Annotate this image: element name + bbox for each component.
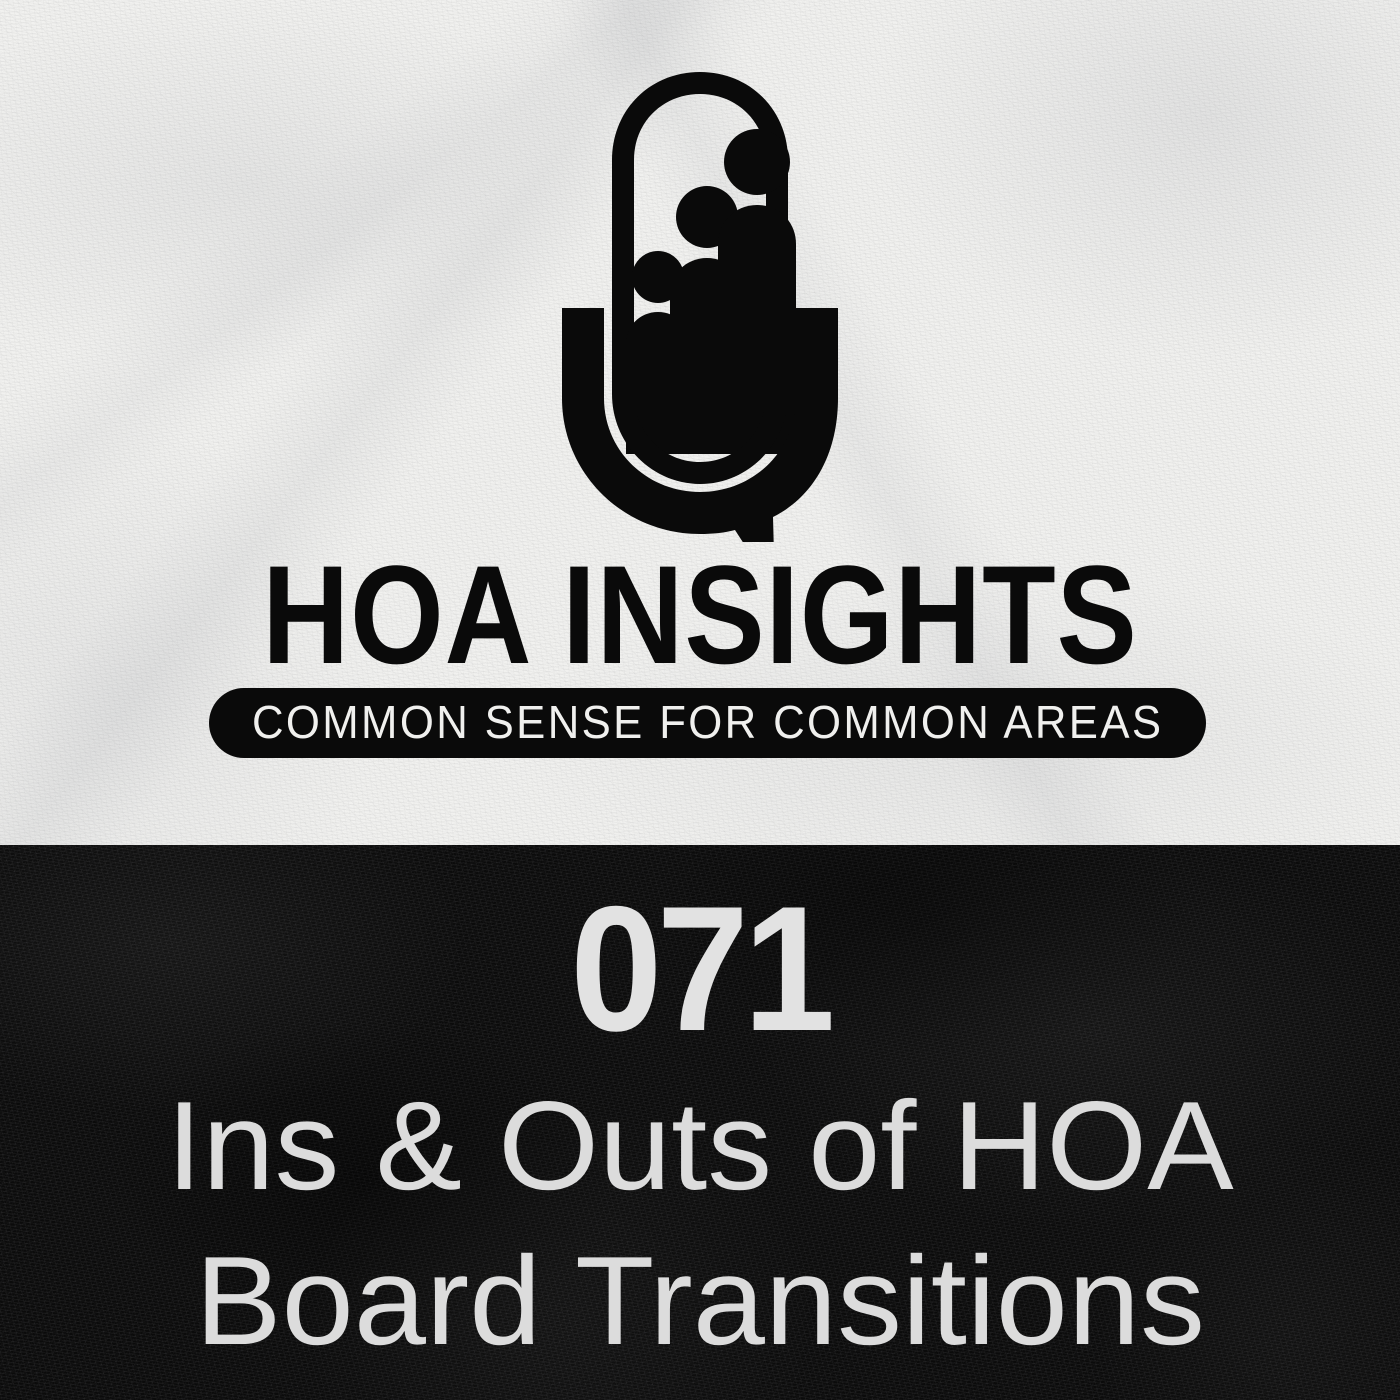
episode-number: 071 bbox=[49, 898, 1351, 1040]
episode-title: Ins & Outs of HOA Board Transitions bbox=[60, 1068, 1340, 1378]
microphone-speech-bubble-people-icon bbox=[540, 62, 860, 542]
tagline-text: COMMON SENSE FOR COMMON AREAS bbox=[252, 699, 1163, 745]
tagline-pill: COMMON SENSE FOR COMMON AREAS bbox=[209, 688, 1206, 758]
episode-title-line-1: Ins & Outs of HOA bbox=[41, 1068, 1359, 1223]
episode-title-line-2: Board Transitions bbox=[41, 1223, 1359, 1378]
podcast-cover-art: HOA INSIGHTS COMMON SENSE FOR COMMON ARE… bbox=[0, 0, 1400, 1400]
brand-title: HOA INSIGHTS bbox=[98, 556, 1302, 674]
